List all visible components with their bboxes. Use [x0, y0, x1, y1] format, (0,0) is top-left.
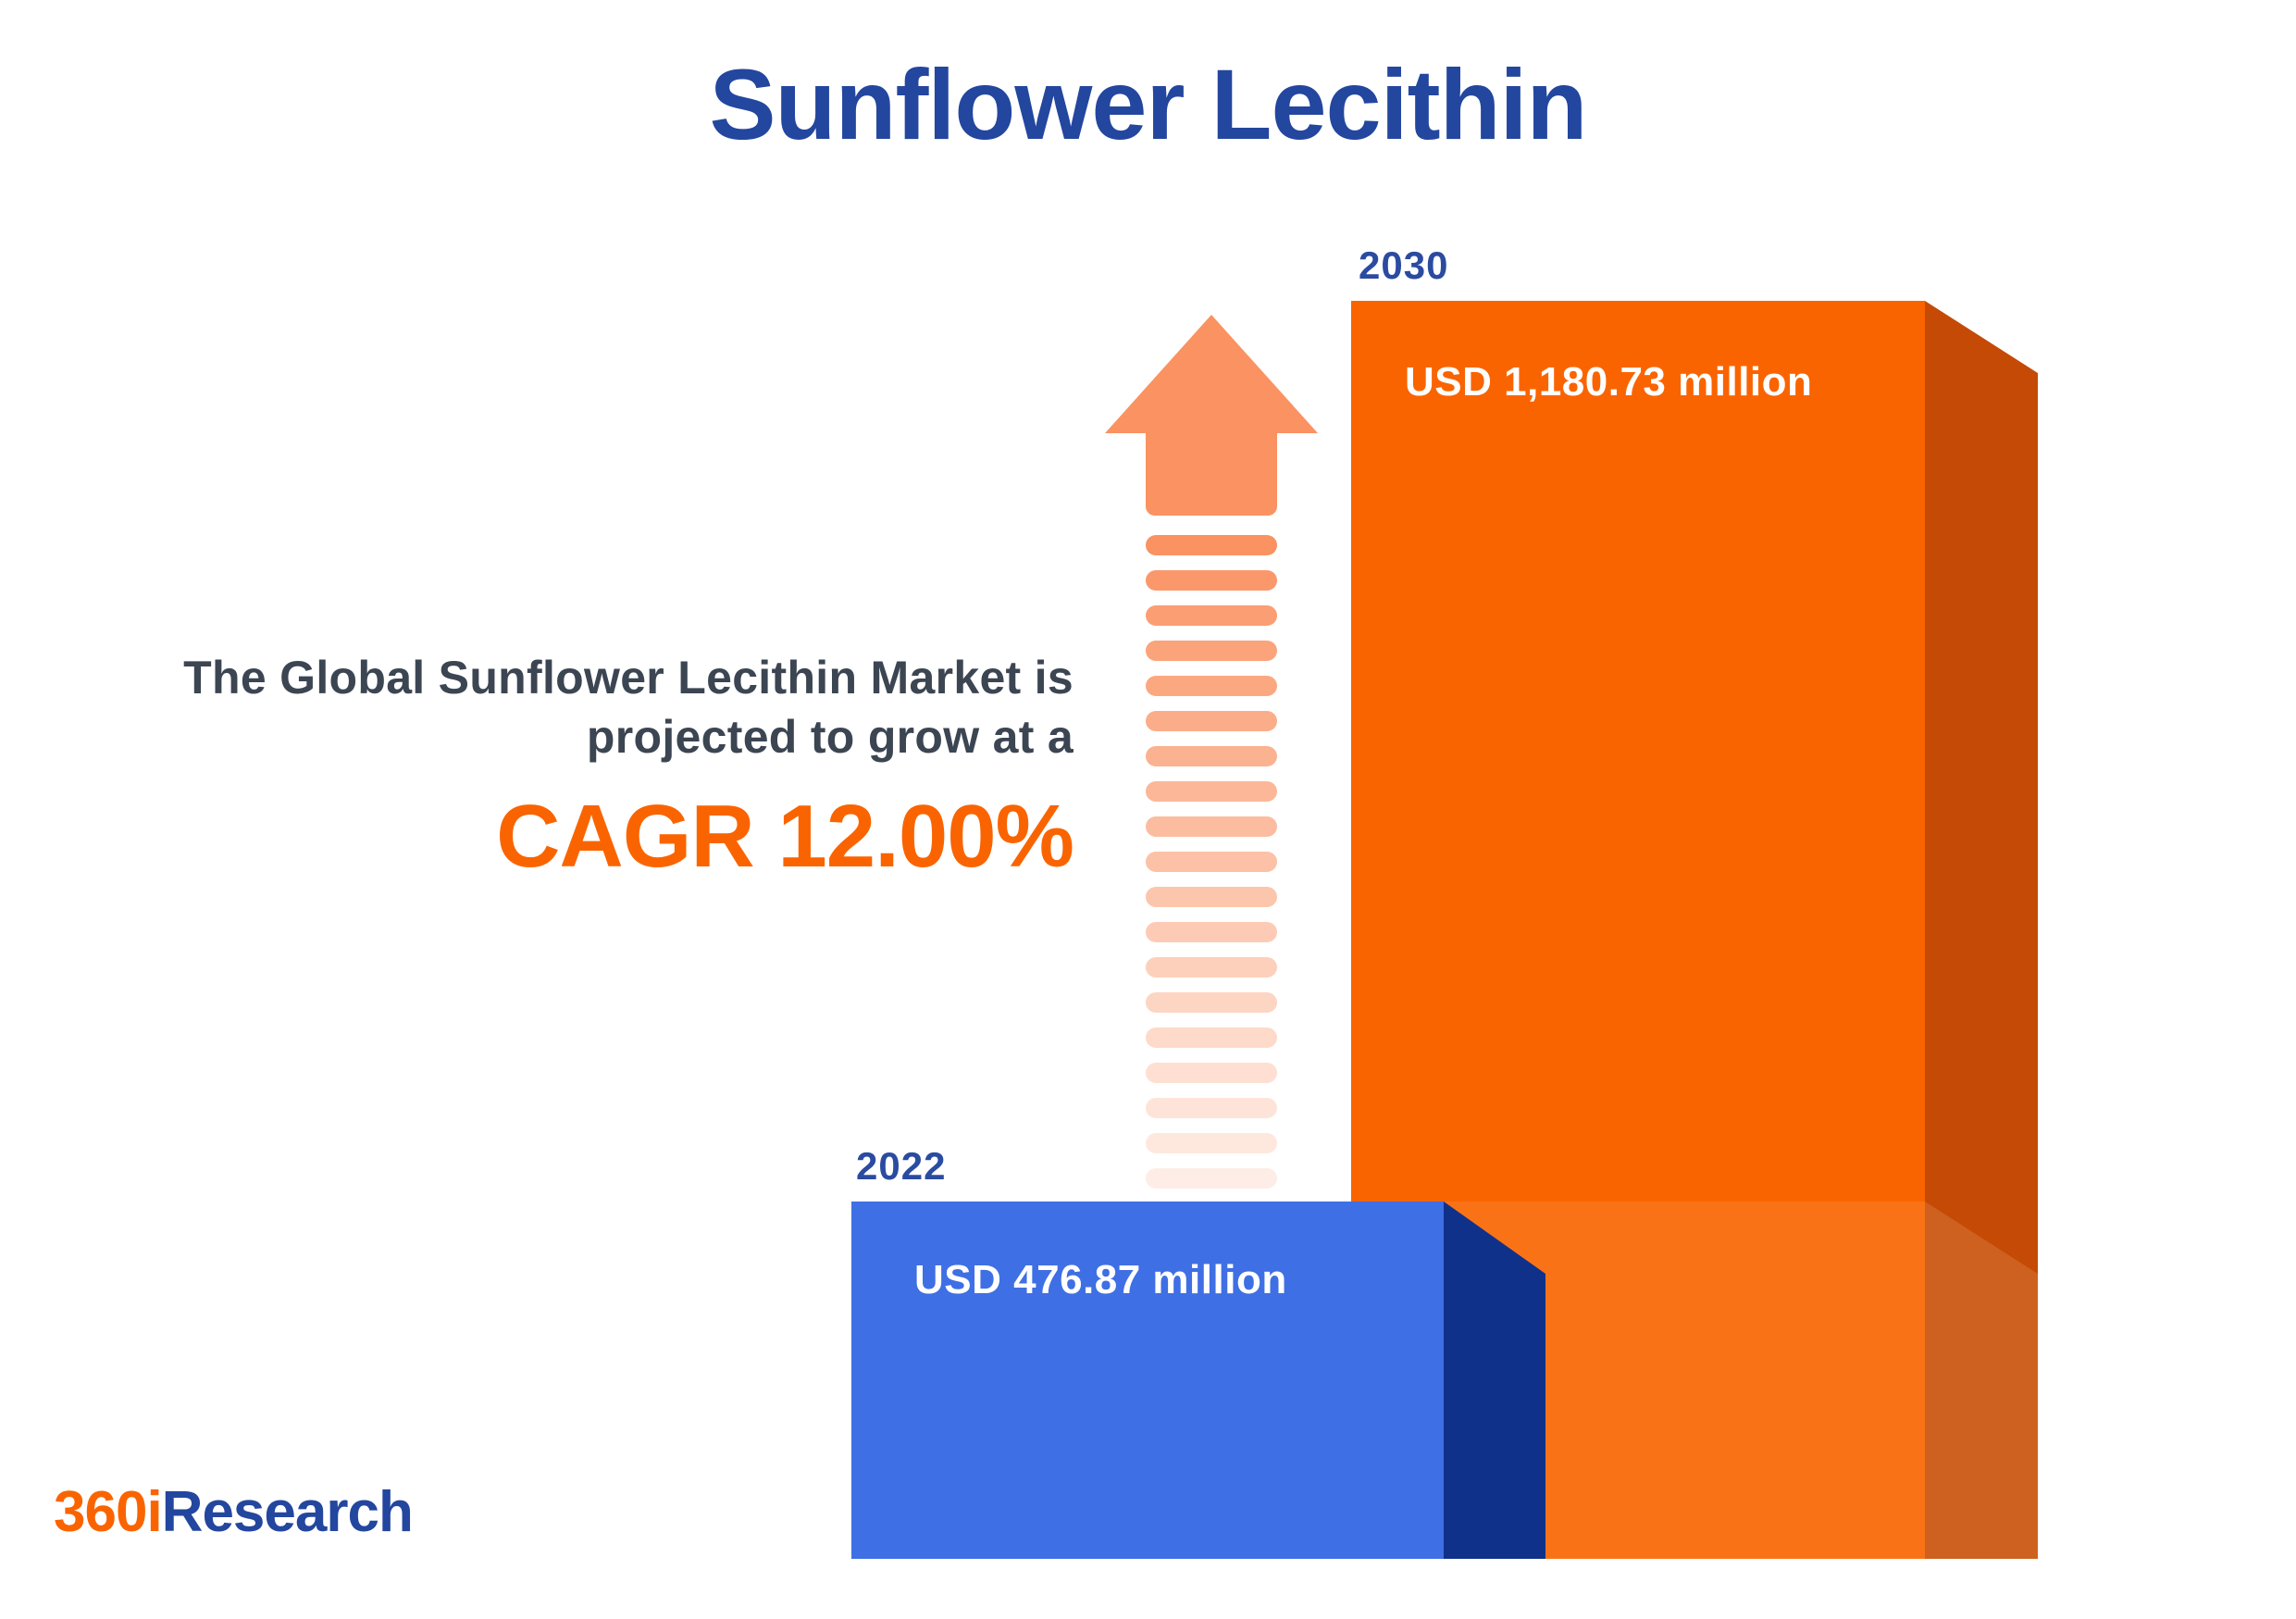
arrow-stripe [1146, 570, 1277, 591]
bar-2022-value-label: USD 476.87 million [914, 1257, 1287, 1303]
brand-logo[interactable]: 360iResearch [54, 1479, 413, 1545]
bar-2030-value-label: USD 1,180.73 million [1405, 359, 1812, 405]
arrow-stripe [1146, 1168, 1277, 1189]
arrow-stripe [1146, 641, 1277, 661]
arrow-stripe [1146, 816, 1277, 837]
arrow-stripe [1146, 676, 1277, 696]
infographic-canvas: Sunflower Lecithin The Global Sunflower … [0, 0, 2296, 1619]
arrow-stripe [1146, 957, 1277, 978]
arrow-stripe [1146, 535, 1277, 555]
arrow-stripe [1146, 1027, 1277, 1048]
arrow-stripe [1146, 1098, 1277, 1118]
bar-2030-year-label: 2030 [1359, 243, 1448, 288]
arrow-stripe [1146, 746, 1277, 766]
bar-2022-front-face [851, 1202, 1444, 1559]
description-line-2: projected to grow at a [56, 707, 1074, 766]
brand-logo-part-1: 360i [54, 1480, 162, 1544]
arrow-neck [1146, 432, 1277, 516]
bar-2022-year-label: 2022 [856, 1144, 946, 1189]
page-title: Sunflower Lecithin [0, 46, 2296, 162]
description-line-1: The Global Sunflower Lecithin Market is [56, 648, 1074, 707]
arrow-stripe [1146, 992, 1277, 1013]
arrow-head-icon [1105, 315, 1318, 433]
arrow-stripe [1146, 1063, 1277, 1083]
arrow-stripe [1146, 711, 1277, 731]
description-block: The Global Sunflower Lecithin Market is … [56, 648, 1074, 884]
arrow-stripe [1146, 1133, 1277, 1153]
cagr-value: CAGR 12.00% [56, 791, 1074, 884]
upward-growth-arrow-icon [1105, 315, 1318, 1092]
arrow-stripe [1146, 781, 1277, 802]
arrow-stripe [1146, 922, 1277, 942]
arrow-stripe [1146, 605, 1277, 626]
arrow-stripe [1146, 887, 1277, 907]
arrow-stripe [1146, 852, 1277, 872]
brand-logo-part-2: Research [162, 1480, 413, 1544]
